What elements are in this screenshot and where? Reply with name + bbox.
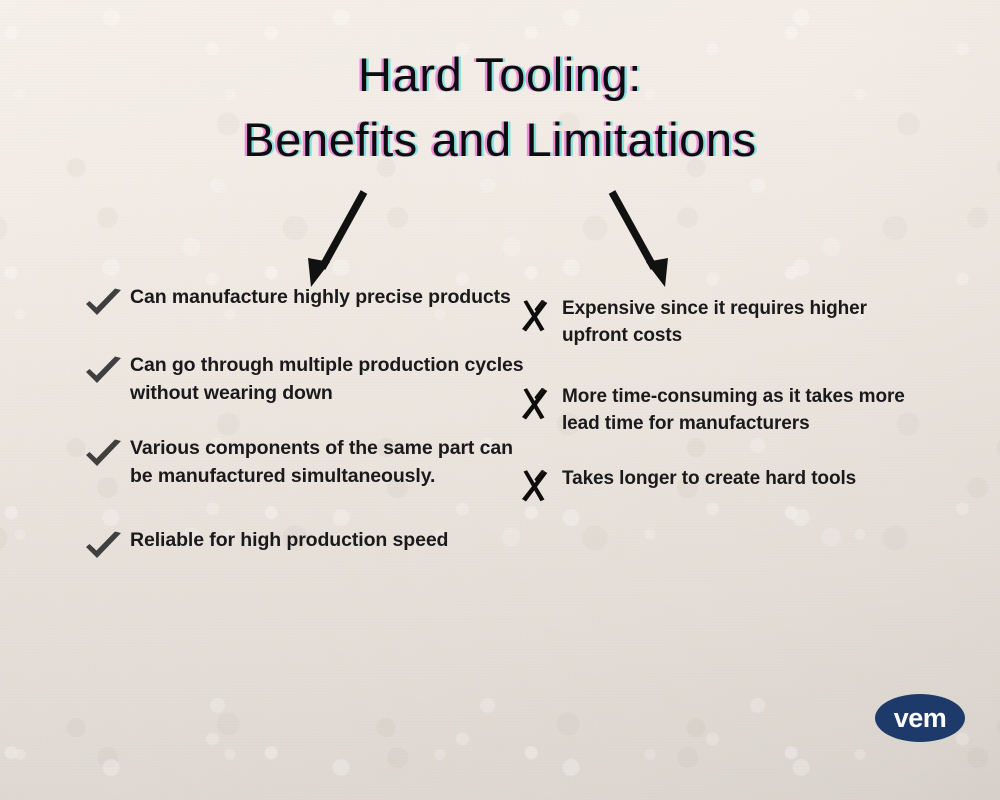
list-item-label: Can go through multiple production cycle… <box>130 352 524 407</box>
vem-logo[interactable]: vem <box>874 693 966 743</box>
list-item-label: Expensive since it requires higher upfro… <box>562 296 918 350</box>
list-item: Takes longer to create hard tools <box>518 466 918 504</box>
page-title: Hard Tooling: Benefits and Limitations <box>0 46 1000 169</box>
check-icon <box>84 284 130 320</box>
list-item: More time-consuming as it takes more lea… <box>518 384 918 438</box>
list-item: Can go through multiple production cycle… <box>84 352 524 407</box>
limitations-column: Expensive since it requires higher upfro… <box>518 284 918 504</box>
list-item: Can manufacture highly precise products <box>84 284 524 320</box>
check-icon <box>84 352 130 388</box>
title-line-1: Hard Tooling: <box>0 46 1000 103</box>
list-item: Reliable for high production speed <box>84 527 524 563</box>
cross-icon <box>518 296 562 334</box>
list-item: Various components of the same part can … <box>84 435 524 490</box>
list-item-label: Takes longer to create hard tools <box>562 466 856 493</box>
check-icon <box>84 527 130 563</box>
check-icon <box>84 435 130 471</box>
cross-icon <box>518 384 562 422</box>
cross-icon <box>518 466 562 504</box>
infographic-poster: Hard Tooling: Benefits and Limitations <box>0 0 1000 800</box>
list-item-label: Reliable for high production speed <box>130 527 448 555</box>
list-item-label: Can manufacture highly precise products <box>130 284 511 312</box>
list-item-label: More time-consuming as it takes more lea… <box>562 384 918 438</box>
list-item: Expensive since it requires higher upfro… <box>518 296 918 350</box>
logo-text: vem <box>894 703 947 733</box>
title-line-2: Benefits and Limitations <box>0 111 1000 168</box>
list-item-label: Various components of the same part can … <box>130 435 524 490</box>
benefits-column: Can manufacture highly precise products … <box>84 284 524 563</box>
